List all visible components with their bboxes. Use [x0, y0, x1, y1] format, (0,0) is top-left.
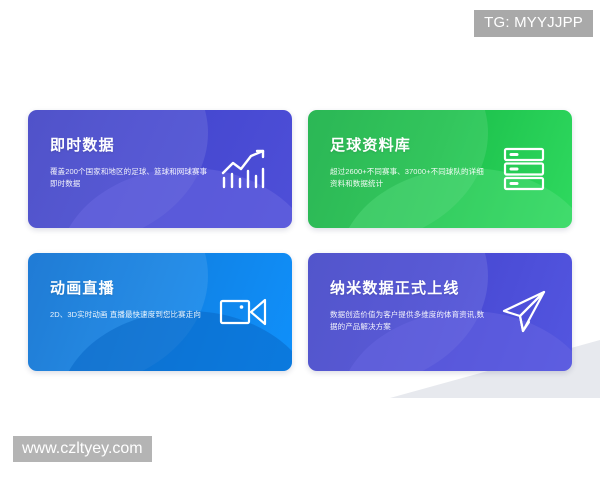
- feature-card-realtime-data[interactable]: 即时数据 覆盖200个国家和地区的足球、篮球和网球赛事即时数据: [28, 110, 292, 228]
- card-content: 动画直播 2D、3D实时动画 直播最快速度到您比赛走向: [28, 253, 218, 321]
- card-title: 即时数据: [50, 137, 218, 155]
- card-content: 足球资料库 超过2600+不同赛事、37000+不同球队的详细资料和数据统计: [308, 110, 498, 190]
- feature-card-nami-data-launch[interactable]: 纳米数据正式上线 数据创造价值为客户提供多维度的体育资讯,数据的产品解决方案: [308, 253, 572, 371]
- card-content: 即时数据 覆盖200个国家和地区的足球、篮球和网球赛事即时数据: [28, 110, 218, 190]
- bar-chart-trend-icon: [216, 143, 272, 195]
- card-description: 数据创造价值为客户提供多维度的体育资讯,数据的产品解决方案: [330, 309, 490, 333]
- card-content: 纳米数据正式上线 数据创造价值为客户提供多维度的体育资讯,数据的产品解决方案: [308, 253, 498, 333]
- card-description: 覆盖200个国家和地区的足球、篮球和网球赛事即时数据: [50, 166, 210, 190]
- card-title: 足球资料库: [330, 137, 498, 155]
- card-description: 2D、3D实时动画 直播最快速度到您比赛走向: [50, 309, 210, 321]
- site-watermark: www.czltyey.com: [13, 436, 152, 462]
- card-title: 纳米数据正式上线: [330, 280, 498, 298]
- server-stack-icon: [496, 143, 552, 195]
- paper-plane-icon: [496, 286, 552, 338]
- card-description: 超过2600+不同赛事、37000+不同球队的详细资料和数据统计: [330, 166, 490, 190]
- feature-card-animated-live[interactable]: 动画直播 2D、3D实时动画 直播最快速度到您比赛走向: [28, 253, 292, 371]
- feature-card-grid: 即时数据 覆盖200个国家和地区的足球、篮球和网球赛事即时数据 足球资料库 超过…: [28, 110, 572, 371]
- card-title: 动画直播: [50, 280, 218, 298]
- telegram-handle-badge: TG: MYYJJPP: [474, 10, 593, 37]
- video-camera-icon: [216, 286, 272, 338]
- feature-card-football-database[interactable]: 足球资料库 超过2600+不同赛事、37000+不同球队的详细资料和数据统计: [308, 110, 572, 228]
